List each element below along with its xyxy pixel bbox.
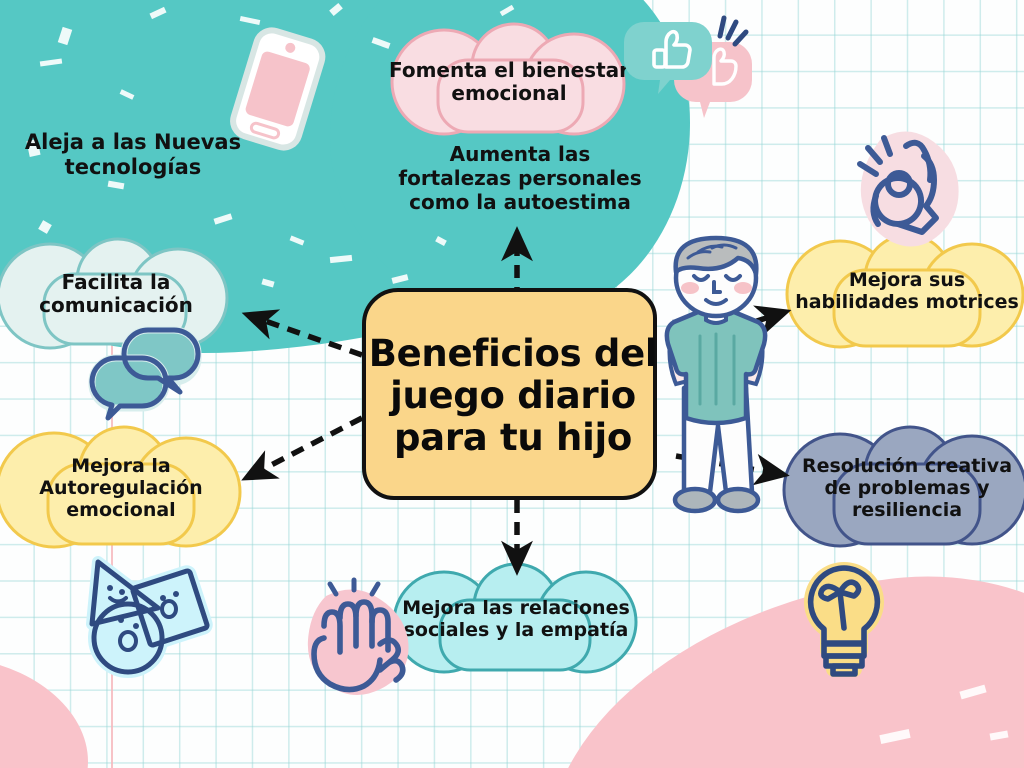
text-autoestima: Aumenta las fortalezas personales como l…: [392, 142, 648, 214]
page-title: Beneficios del juego diario para tu hijo: [368, 296, 658, 496]
ok-hand-icon: [846, 122, 978, 248]
cloud-bienestar[interactable]: Fomenta el bienestar emocional: [378, 26, 640, 138]
infographic-canvas: Fomenta el bienestar emocional Facilita …: [0, 0, 1024, 768]
clapping-hands-icon: [302, 582, 420, 694]
emotion-shapes-icon: [66, 546, 216, 676]
boy-illustration: [640, 238, 790, 550]
cloud-resolucion-label: Resolución creativa de problemas y resil…: [782, 424, 1024, 552]
lightbulb-icon: [788, 556, 900, 680]
cloud-motrices-label: Mejora sus habilidades motrices: [782, 232, 1024, 350]
thumbs-up-and-heart-bubbles-icon: [636, 12, 752, 120]
text-tecnologias: Aleja a las Nuevas tecnologías: [8, 130, 258, 180]
cloud-autorregulacion[interactable]: Mejora la Autoregulación emocional: [0, 424, 246, 552]
cloud-motrices[interactable]: Mejora sus habilidades motrices: [782, 232, 1024, 350]
cloud-sociales-label: Mejora las relaciones sociales y la empa…: [382, 564, 650, 674]
cloud-resolucion[interactable]: Resolución creativa de problemas y resil…: [782, 424, 1024, 552]
speech-bubbles-icon: [86, 324, 204, 424]
cloud-bienestar-label: Fomenta el bienestar emocional: [378, 26, 640, 138]
cloud-autorregulacion-label: Mejora la Autoregulación emocional: [0, 424, 246, 552]
cloud-sociales[interactable]: Mejora las relaciones sociales y la empa…: [382, 564, 650, 674]
